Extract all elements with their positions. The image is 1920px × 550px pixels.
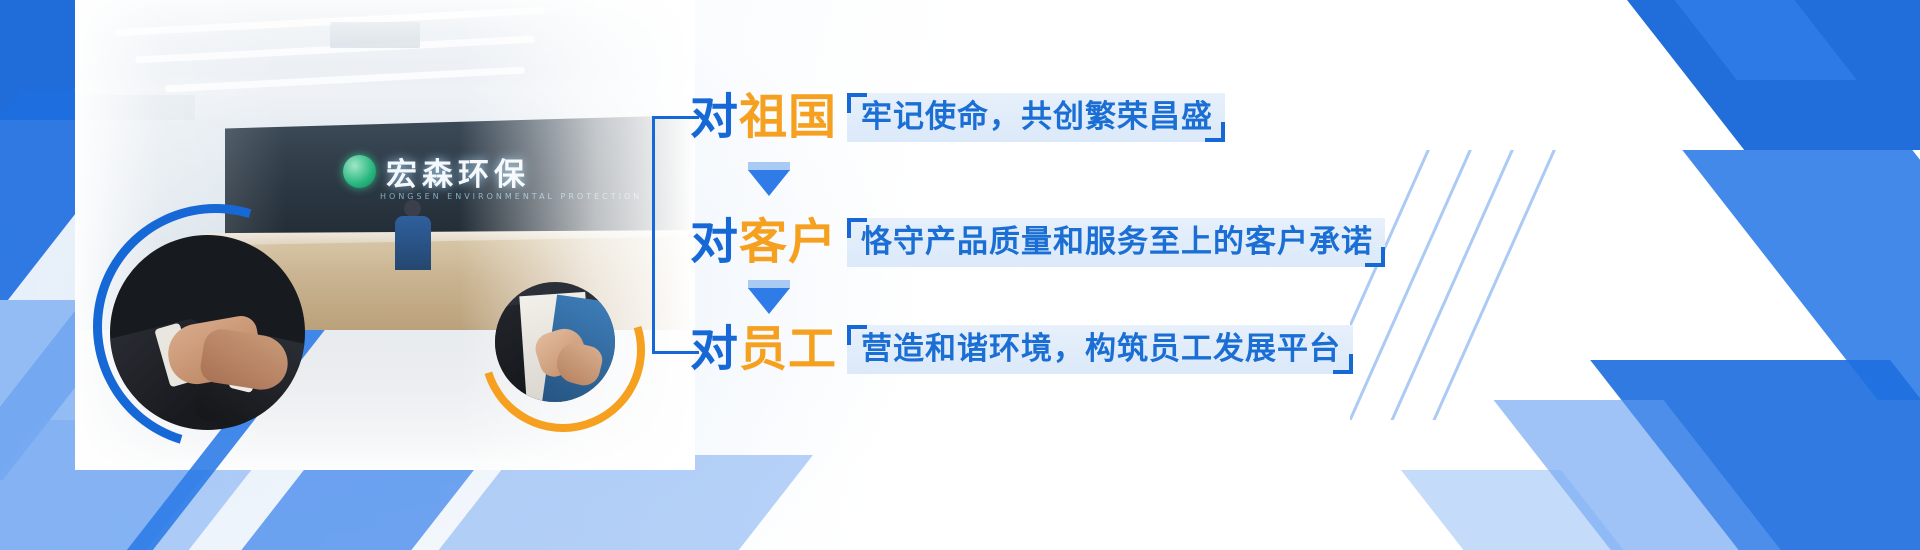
value-row-2: 对客户 恪守产品质量和服务至上的客户承诺: [690, 218, 1385, 267]
arrow-down-icon-2: [748, 288, 790, 314]
value-row-1: 对祖国 牢记使命，共创繁荣昌盛: [690, 93, 1225, 142]
value-row-3: 对员工 营造和谐环境，构筑员工发展平台: [690, 325, 1353, 374]
value-quote-2: 恪守产品质量和服务至上的客户承诺: [847, 218, 1385, 267]
value-lead-2: 对客户: [690, 218, 837, 266]
value-lead-orange-3: 员工: [739, 321, 837, 377]
company-values-banner: 宏森环保 HONGSEN ENVIRONMENTAL PROTECTION: [0, 0, 1920, 550]
value-lead-3: 对员工: [690, 325, 837, 373]
arrow-down-icon-1: [748, 170, 790, 196]
value-lead-blue-3: 对: [690, 321, 739, 377]
value-lead-blue-2: 对: [690, 214, 739, 270]
value-lead-orange-2: 客户: [739, 214, 837, 270]
value-lead-1: 对祖国: [690, 93, 837, 141]
value-lead-blue-1: 对: [690, 89, 739, 145]
value-quote-3: 营造和谐环境，构筑员工发展平台: [847, 325, 1353, 374]
values-list: 对祖国 牢记使命，共创繁荣昌盛 对客户 恪守产品质量和服务至上的客户承诺 对员工…: [690, 0, 1410, 550]
value-quote-1: 牢记使命，共创繁荣昌盛: [847, 93, 1225, 142]
value-lead-orange-1: 祖国: [739, 89, 837, 145]
